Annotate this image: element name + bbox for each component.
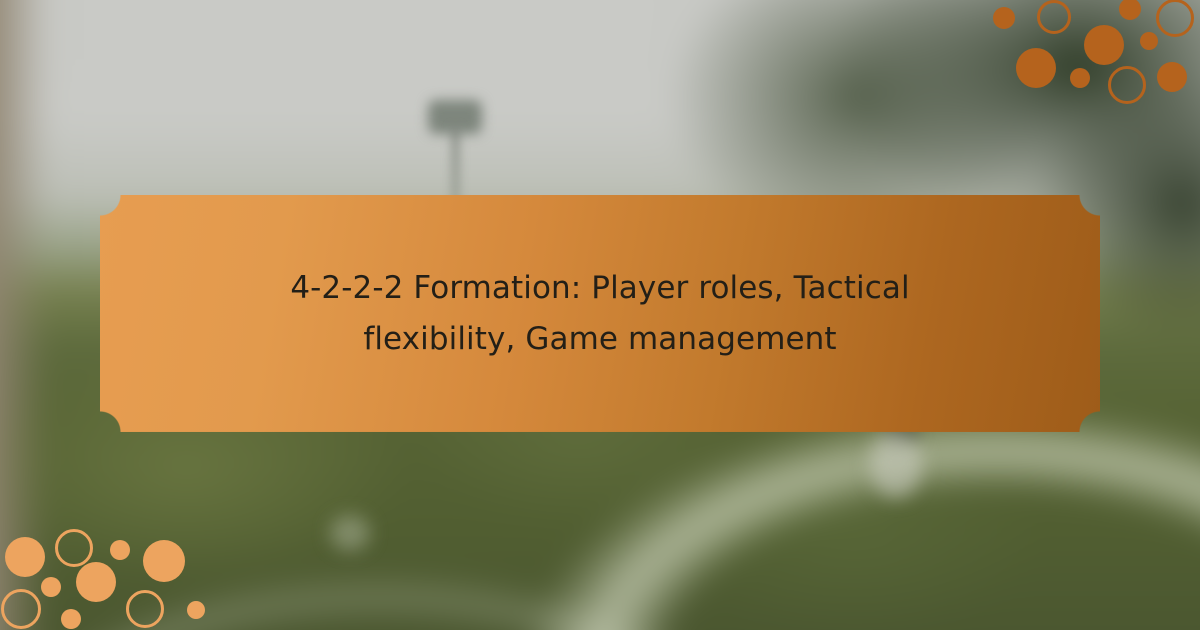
title-line-1: 4-2-2-2 Formation: Player roles, Tactica… <box>290 263 909 313</box>
title-card: 4-2-2-2 Formation: Player roles, Tactica… <box>100 195 1100 432</box>
decorative-circle <box>1084 25 1124 65</box>
banner-canvas: 4-2-2-2 Formation: Player roles, Tactica… <box>0 0 1200 630</box>
decorative-circle <box>1108 66 1146 104</box>
circle-cluster-bottom-left <box>0 518 232 630</box>
decorative-circle <box>5 537 45 577</box>
decorative-circle <box>1016 48 1056 88</box>
circle-cluster-top-right <box>980 0 1200 112</box>
pitch-background-blob-light <box>870 430 922 498</box>
decorative-circle <box>76 562 116 602</box>
decorative-circle <box>1157 62 1187 92</box>
page-title: 4-2-2-2 Formation: Player roles, Tactica… <box>218 263 981 363</box>
decorative-circle <box>126 590 164 628</box>
decorative-circle <box>143 540 185 582</box>
decorative-circle <box>41 577 61 597</box>
decorative-circle <box>993 7 1015 29</box>
pitch-background-blob-small <box>330 515 370 551</box>
decorative-circle <box>187 601 205 619</box>
decorative-circle <box>61 609 81 629</box>
decorative-circle <box>1070 68 1090 88</box>
decorative-circle <box>1037 0 1071 34</box>
title-line-2: flexibility, Game management <box>290 314 909 364</box>
decorative-circle <box>1 589 41 629</box>
decorative-circle <box>110 540 130 560</box>
decorative-circle <box>1156 0 1194 37</box>
decorative-circle <box>1140 32 1158 50</box>
decorative-circle <box>1119 0 1141 20</box>
decorative-circle <box>55 529 93 567</box>
